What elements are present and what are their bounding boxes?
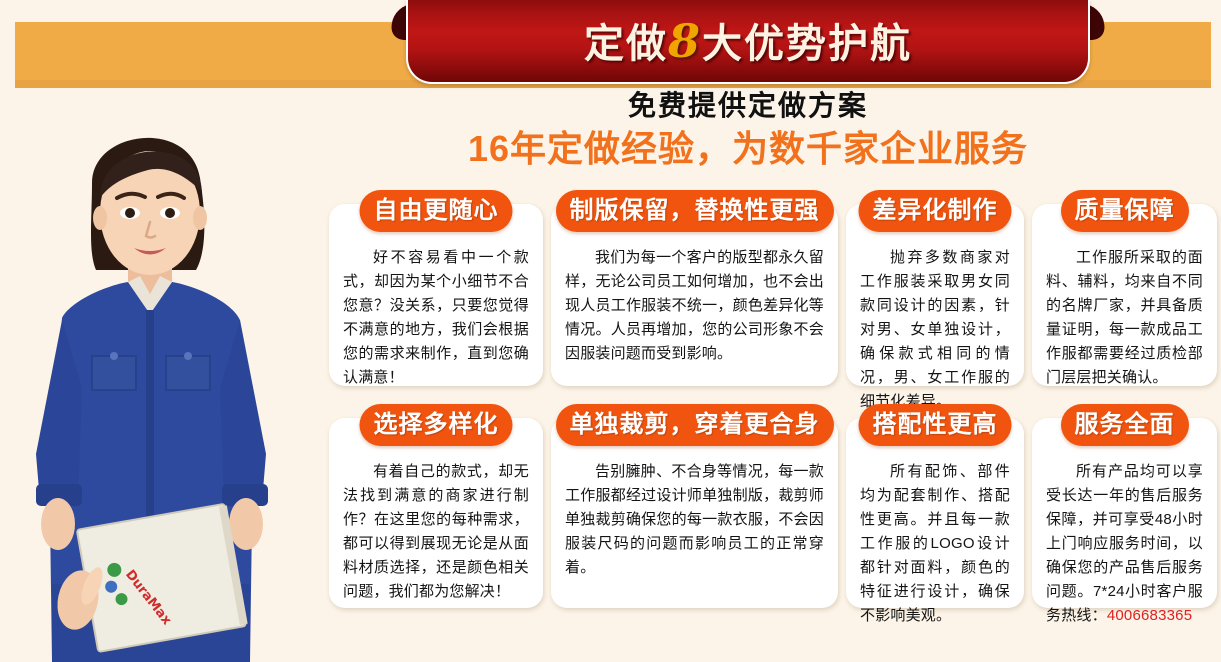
card-3-body: 抛弃多数商家对工作服装采取男女同款同设计的因素，针对男、女单独设计，确保款式相同… [846,246,1024,414]
advantage-card-1[interactable]: 自由更随心 好不容易看中一个款式，却因为某个小细节不合您意？没关系，只要您觉得不… [329,204,543,386]
card-1-title: 自由更随心 [374,199,499,223]
card-4-header: 质量保障 [1061,190,1189,232]
card-6-title: 单独裁剪，穿着更合身 [570,413,820,437]
card-4-body: 工作服所采取的面料、辅料，均来自不同的名牌厂家，并具备质量证明，每一款成品工作服… [1032,246,1217,390]
card-2-body: 我们为每一个客户的版型都永久留样，无论公司员工如何增加，也不会出现人员工作服装不… [551,246,838,366]
model-photo-illustration: DuraMax [0,88,325,662]
card-2-header: 制版保留，替换性更强 [556,190,834,232]
card-7-header: 搭配性更高 [859,404,1012,446]
banner-ribbon-body: 定做8大优势护航 [406,0,1090,84]
card-3-title: 差异化制作 [873,199,998,223]
advantage-card-6[interactable]: 单独裁剪，穿着更合身 告别臃肿、不合身等情况，每一款工作服都经过设计师单独制版，… [551,418,838,608]
card-8-title: 服务全面 [1075,413,1175,437]
subtitle-secondary: 16年定做经验，为数千家企业服务 [382,128,1114,170]
banner-title-part2: 大优势护航 [702,20,912,67]
service-hotline-number: 4006683365 [1107,607,1192,624]
card-8-body: 所有产品均可以享受长达一年的售后服务保障，并可享受48小时上门响应服务时间，以确… [1032,460,1217,628]
card-1-body: 好不容易看中一个款式，却因为某个小细节不合您意？没关系，只要您觉得不满意的地方，… [329,246,543,390]
card-5-body: 有着自己的款式，却无法找到满意的商家进行制作？在这里您的每种需求，都可以得到展现… [329,460,543,604]
card-8-body-text: 所有产品均可以享受长达一年的售后服务保障，并可享受48小时上门响应服务时间，以确… [1046,463,1203,624]
card-7-body: 所有配饰、部件均为配套制作、搭配性更高。并且每一款工作服的LOGO设计都针对面料… [846,460,1024,628]
model-photo: DuraMax [0,88,325,662]
card-4-title: 质量保障 [1075,199,1175,223]
advantage-card-2[interactable]: 制版保留，替换性更强 我们为每一个客户的版型都永久留样，无论公司员工如何增加，也… [551,204,838,386]
card-5-title: 选择多样化 [374,413,499,437]
card-1-header: 自由更随心 [360,190,513,232]
subtitle-primary: 免费提供定做方案 [392,89,1104,123]
banner-title-number: 8 [668,14,702,68]
card-6-body: 告别臃肿、不合身等情况，每一款工作服都经过设计师单独制版，裁剪师单独裁剪确保您的… [551,460,838,580]
card-2-title: 制版保留，替换性更强 [570,199,820,223]
advantage-card-5[interactable]: 选择多样化 有着自己的款式，却无法找到满意的商家进行制作？在这里您的每种需求，都… [329,418,543,608]
banner-ribbon: 定做8大优势护航 [392,0,1104,90]
advantage-card-3[interactable]: 差异化制作 抛弃多数商家对工作服装采取男女同款同设计的因素，针对男、女单独设计，… [846,204,1024,386]
advantage-cards-grid: 自由更随心 好不容易看中一个款式，却因为某个小细节不合您意？没关系，只要您觉得不… [325,190,1221,622]
banner-title-part1: 定做 [584,20,668,67]
advantage-card-7[interactable]: 搭配性更高 所有配饰、部件均为配套制作、搭配性更高。并且每一款工作服的LOGO设… [846,418,1024,608]
advantage-card-8[interactable]: 服务全面 所有产品均可以享受长达一年的售后服务保障，并可享受48小时上门响应服务… [1032,418,1217,608]
card-6-header: 单独裁剪，穿着更合身 [556,404,834,446]
promo-page: 定做8大优势护航 免费提供定做方案 16年定做经验，为数千家企业服务 [0,0,1221,662]
card-3-header: 差异化制作 [859,190,1012,232]
advantage-card-4[interactable]: 质量保障 工作服所采取的面料、辅料，均来自不同的名牌厂家，并具备质量证明，每一款… [1032,204,1217,386]
card-8-header: 服务全面 [1061,404,1189,446]
card-7-title: 搭配性更高 [873,413,998,437]
banner-title: 定做8大优势护航 [584,18,912,64]
card-5-header: 选择多样化 [360,404,513,446]
